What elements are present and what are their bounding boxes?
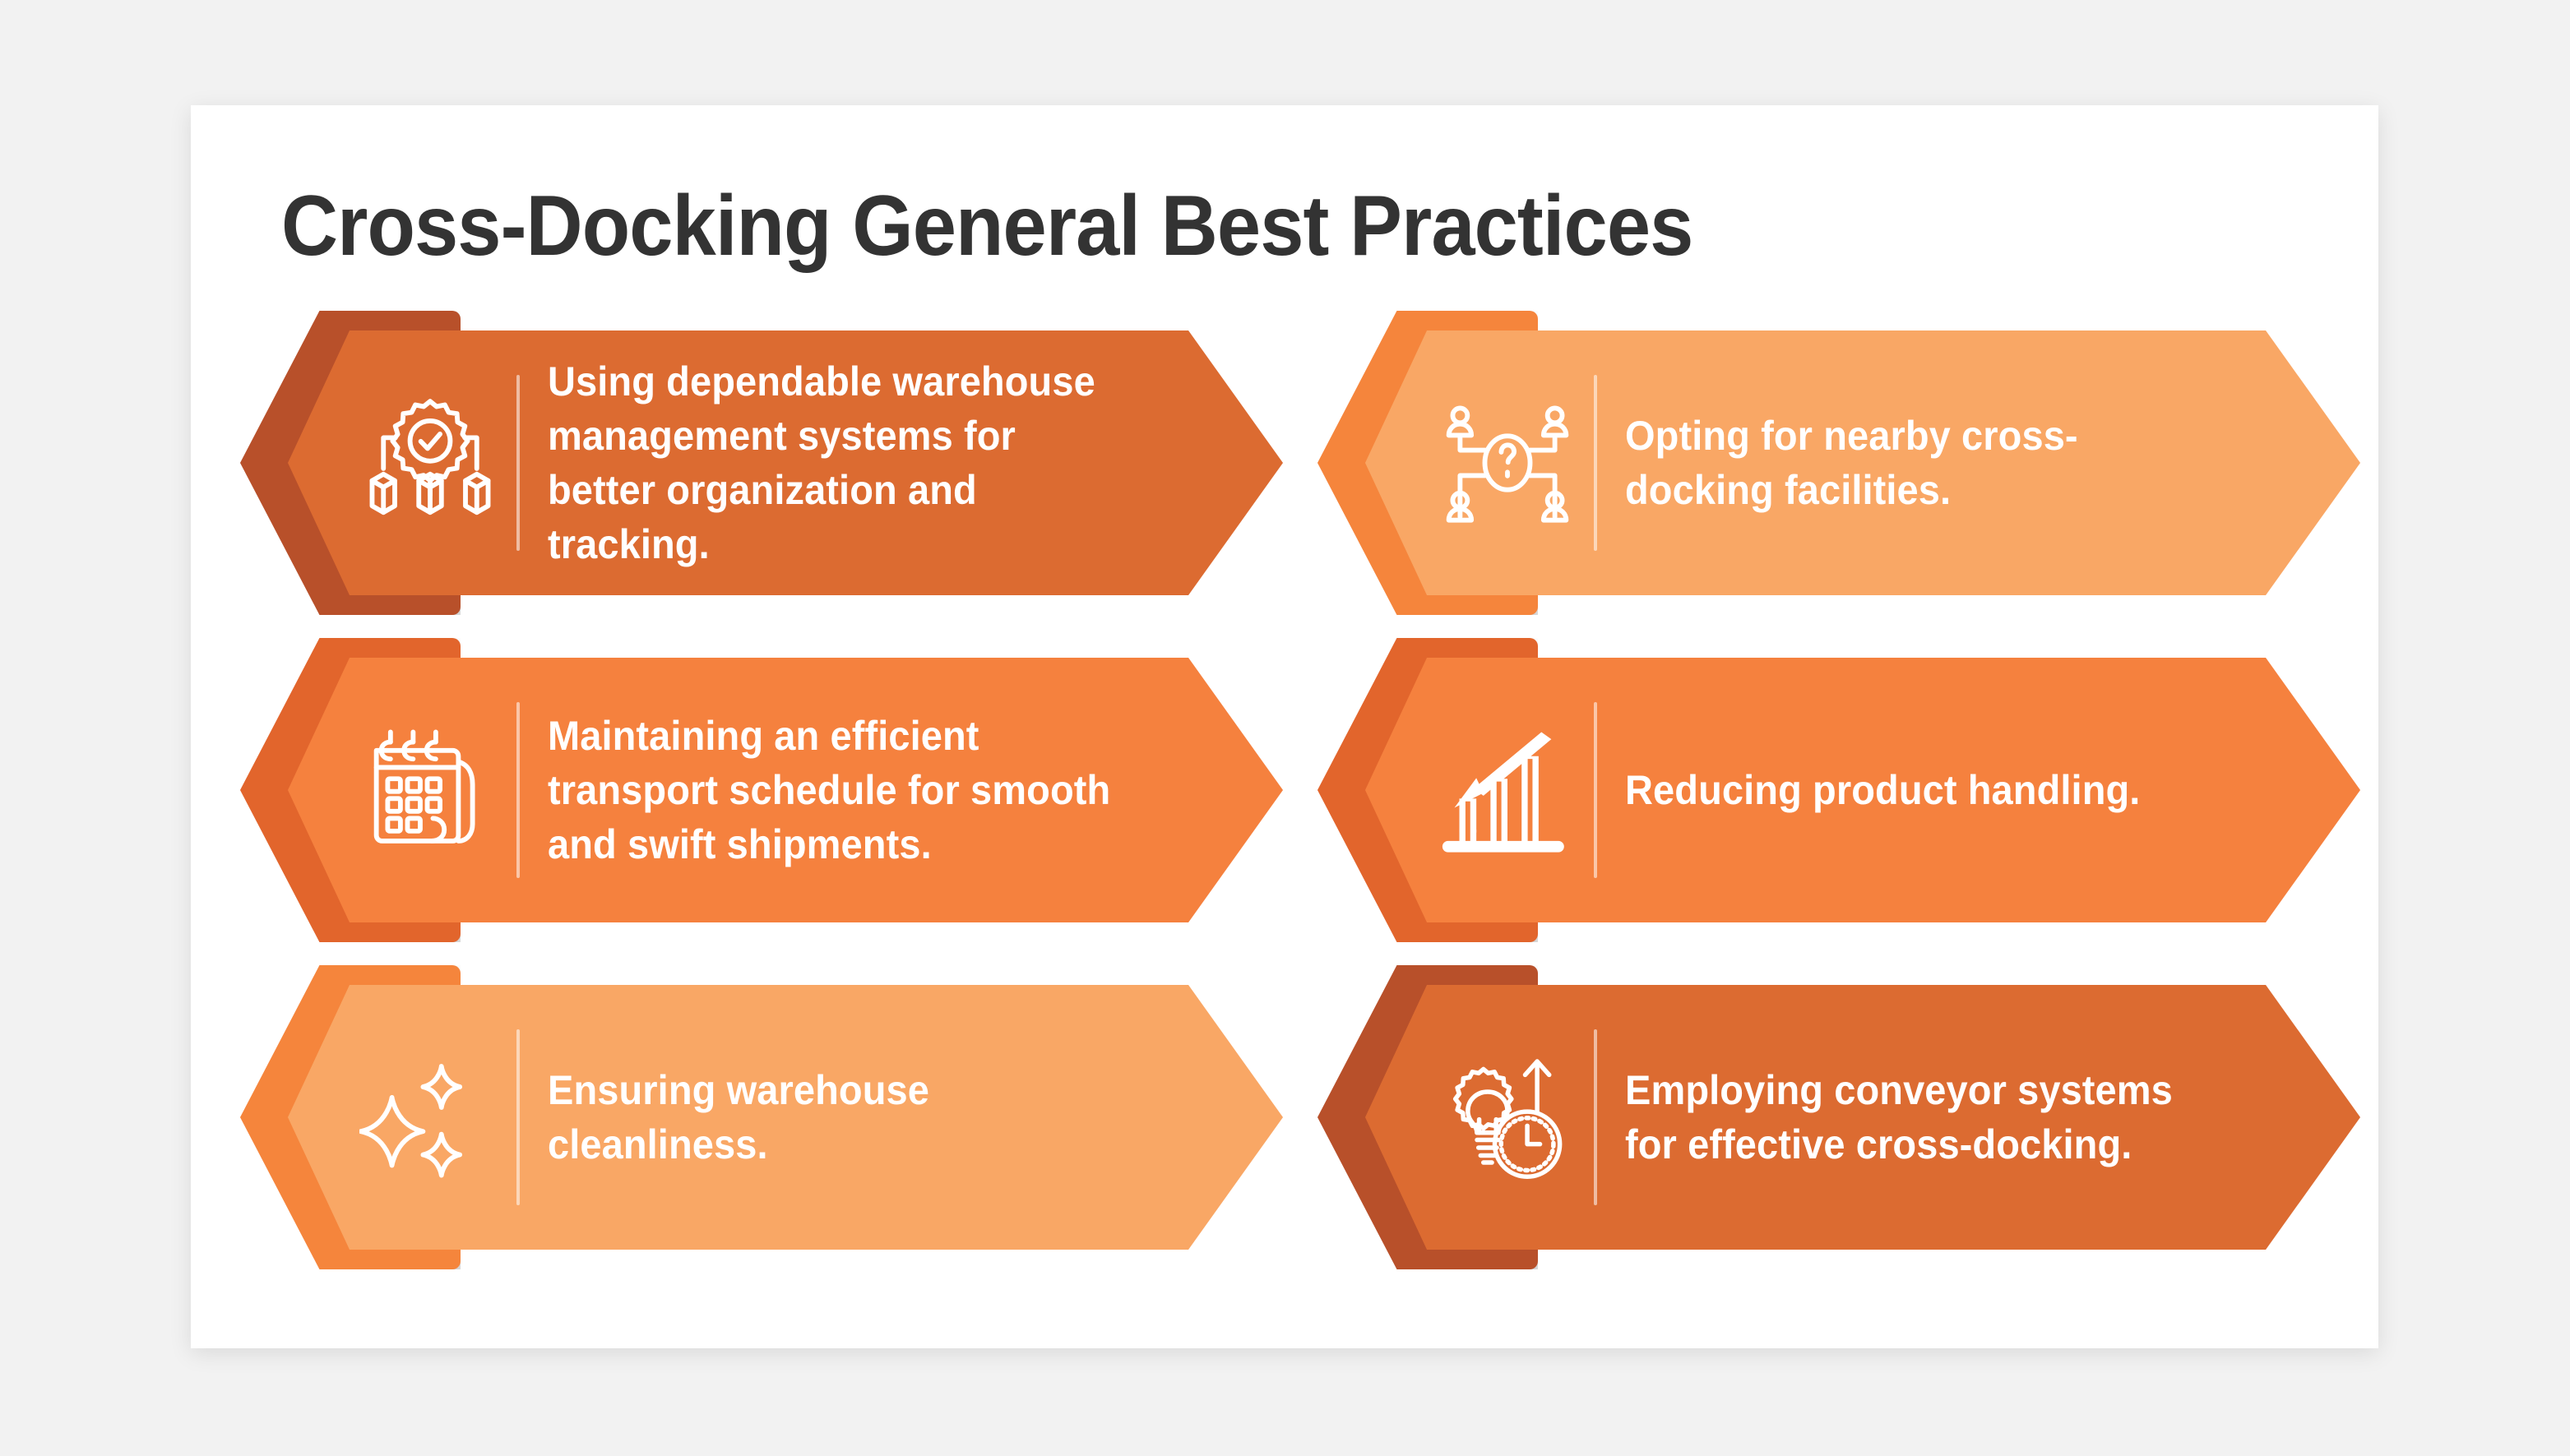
card-6-text: Employing conveyor systems for effective… — [1625, 1063, 2316, 1172]
card-1[interactable]: Using dependable warehouse management sy… — [240, 311, 1297, 615]
card-4-divider — [1594, 702, 1597, 878]
card-2[interactable]: Opting for nearby cross-docking faciliti… — [1317, 311, 2374, 615]
card-3-divider — [516, 702, 520, 878]
card-2-divider — [1594, 375, 1597, 551]
page-title: Cross-Docking General Best Practices — [281, 178, 2173, 275]
card-2-text: Opting for nearby cross-docking faciliti… — [1625, 409, 2316, 517]
card-1-divider — [516, 375, 520, 551]
card-1-body: Using dependable warehouse management sy… — [288, 330, 1283, 595]
card-5[interactable]: Ensuring warehouse cleanliness. — [240, 965, 1297, 1269]
card-3-text: Maintaining an efficient transport sched… — [548, 709, 1239, 871]
card-5-text: Ensuring warehouse cleanliness. — [548, 1063, 1239, 1172]
card-3[interactable]: Maintaining an efficient transport sched… — [240, 638, 1297, 942]
gear-bulb-clock-arrow-icon — [1429, 1047, 1586, 1188]
gear-check-boxes-icon — [352, 392, 508, 534]
card-4[interactable]: Reducing product handling. — [1317, 638, 2374, 942]
card-6-divider — [1594, 1029, 1597, 1205]
bar-chart-down-arrow-icon — [1429, 719, 1586, 861]
card-5-body: Ensuring warehouse cleanliness. — [288, 985, 1283, 1250]
cards-grid: Using dependable warehouse management sy… — [191, 311, 2378, 1297]
calendar-schedule-icon — [352, 719, 508, 861]
card-3-body: Maintaining an efficient transport sched… — [288, 658, 1283, 922]
card-4-text: Reducing product handling. — [1625, 763, 2316, 817]
card-5-divider — [516, 1029, 520, 1205]
card-6[interactable]: Employing conveyor systems for effective… — [1317, 965, 2374, 1269]
card-1-text: Using dependable warehouse management sy… — [548, 354, 1239, 571]
card-4-body: Reducing product handling. — [1365, 658, 2360, 922]
network-question-people-icon — [1429, 392, 1586, 534]
infographic-canvas: Cross-Docking General Best Practices — [191, 105, 2378, 1348]
sparkles-clean-icon — [352, 1047, 508, 1188]
card-6-body: Employing conveyor systems for effective… — [1365, 985, 2360, 1250]
card-2-body: Opting for nearby cross-docking faciliti… — [1365, 330, 2360, 595]
